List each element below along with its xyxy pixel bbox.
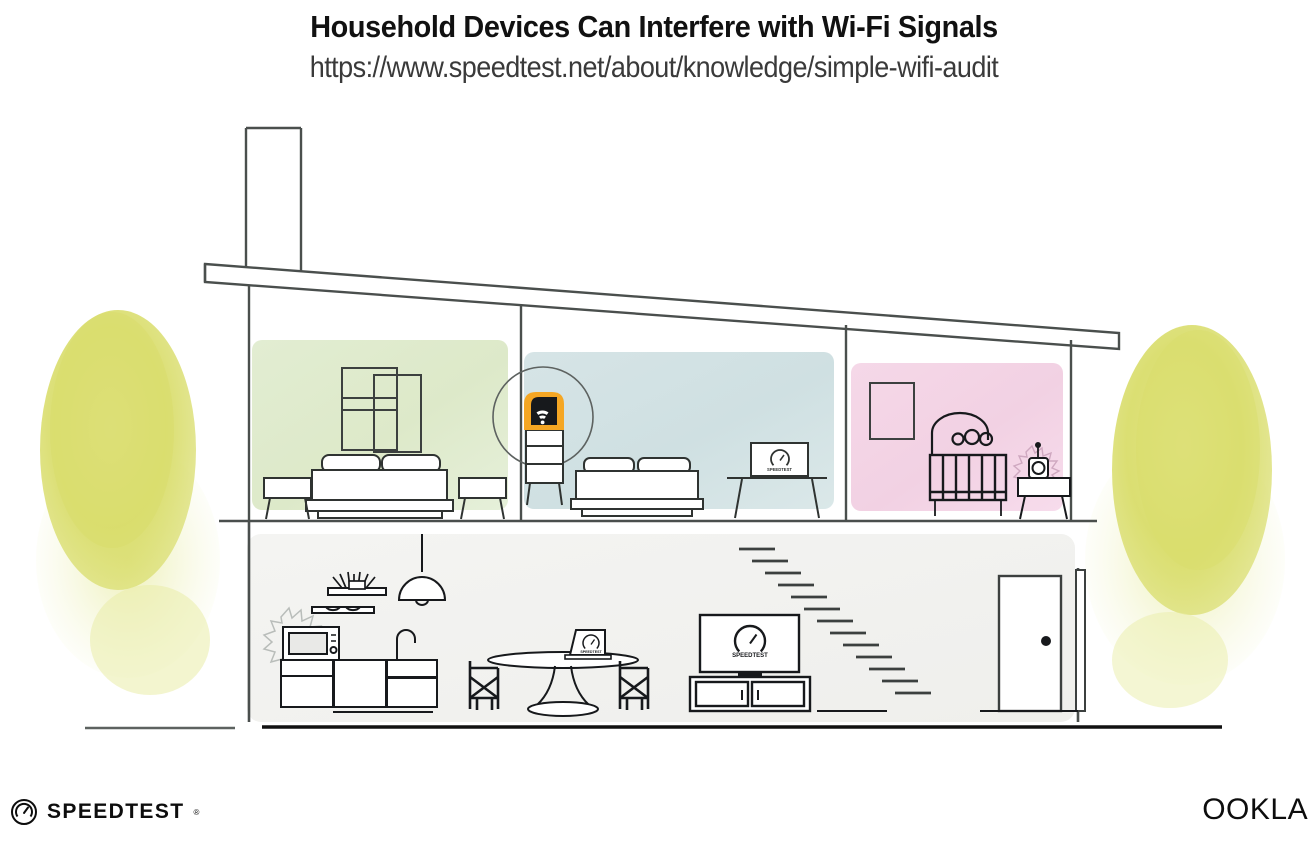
chimney (246, 128, 301, 282)
monitor: SPEEDTEST (751, 443, 808, 479)
door-knob-icon (1041, 636, 1051, 646)
kitchen-cabinets (281, 660, 437, 707)
wifi-router (524, 392, 564, 430)
nightstand-left (264, 478, 311, 519)
wall-shelf-lower (312, 607, 374, 613)
television: SPEEDTEST (700, 615, 799, 676)
microwave (283, 627, 339, 660)
speedtest-gauge-icon (10, 798, 38, 826)
bed-green (306, 455, 453, 518)
nightstand-right (459, 478, 506, 519)
laptop-screen-label: SPEEDTEST (580, 650, 602, 654)
room-green-bedroom (252, 340, 508, 519)
foliage-left (36, 310, 220, 695)
tv-screen-label: SPEEDTEST (732, 653, 768, 659)
speedtest-wordmark: SPEEDTEST (47, 800, 184, 824)
speedtest-trademark: ® (193, 808, 199, 817)
front-door[interactable] (999, 576, 1061, 711)
media-console (690, 677, 810, 711)
room-pink-nursery (851, 363, 1070, 519)
monitor-screen-label: SPEEDTEST (767, 467, 792, 472)
house-illustration: SPEEDTEST (0, 0, 1308, 861)
ground-lines (85, 727, 1222, 728)
roof (205, 264, 1119, 349)
ground-floor: SPEEDTEST (247, 521, 1085, 722)
speedtest-logo: SPEEDTEST ® (10, 798, 199, 826)
ookla-logo: OOKLA ® (1202, 793, 1308, 827)
ookla-wordmark: OOKLA (1202, 793, 1308, 827)
bed-blue (571, 458, 703, 516)
room-blue-bedroom: SPEEDTEST (493, 352, 834, 518)
foliage-right (1085, 325, 1285, 708)
infographic-page: Household Devices Can Interfere with Wi-… (0, 0, 1308, 861)
door-sidelight (1076, 570, 1085, 711)
